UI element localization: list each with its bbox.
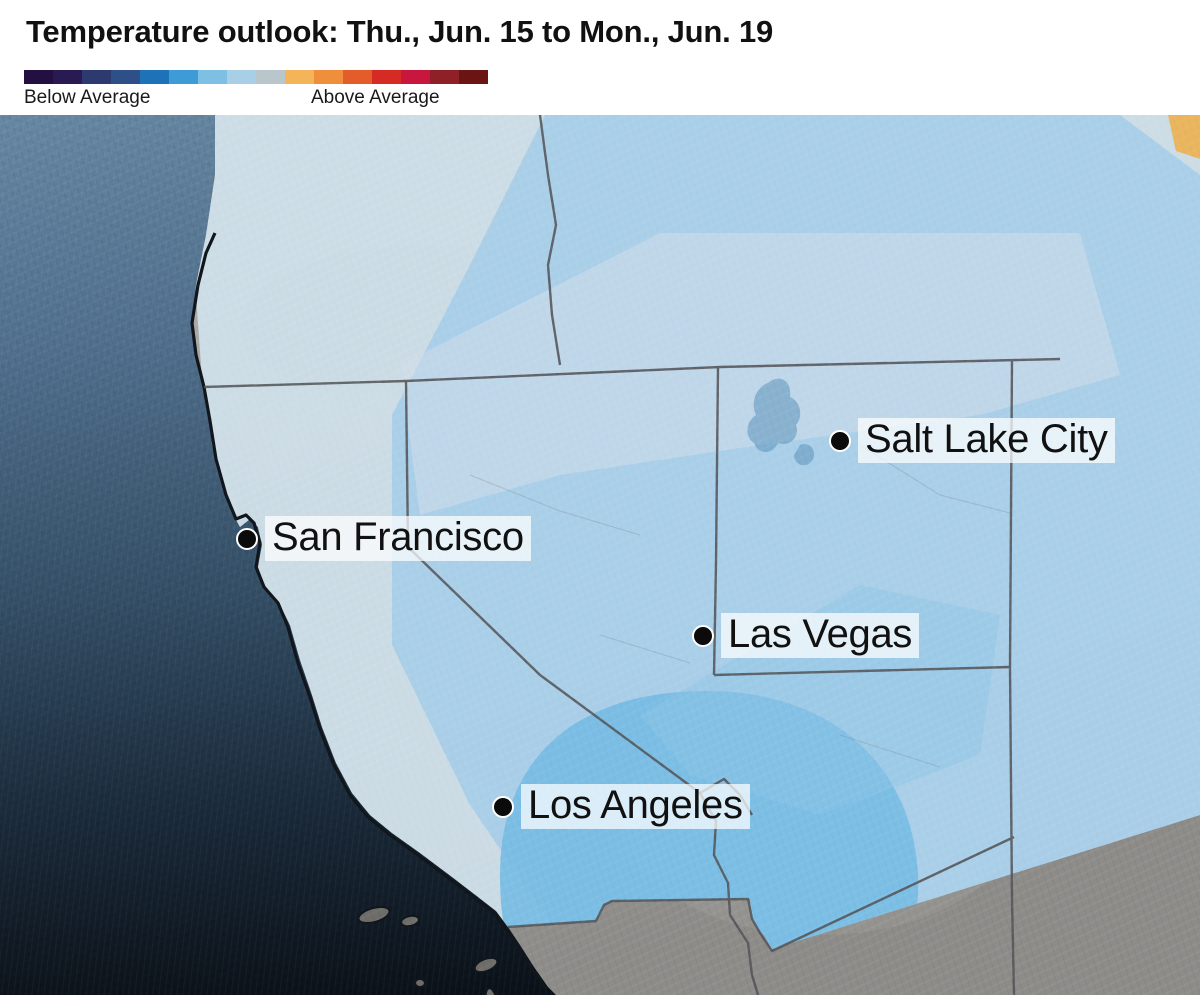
legend-swatch [285, 70, 314, 84]
legend-swatch [169, 70, 198, 84]
city-label: San Francisco [265, 516, 531, 561]
legend-swatch [343, 70, 372, 84]
city-marker-las-vegas[interactable]: Las Vegas [692, 613, 919, 658]
city-dot-icon [236, 528, 258, 550]
legend-label-below-average: Below Average [24, 87, 150, 109]
legend-swatch [401, 70, 430, 84]
city-label: Las Vegas [721, 613, 919, 658]
page-title: Temperature outlook: Thu., Jun. 15 to Mo… [26, 14, 773, 50]
legend-swatch [372, 70, 401, 84]
temperature-color-legend [24, 70, 488, 84]
city-marker-salt-lake-city[interactable]: Salt Lake City [829, 418, 1115, 463]
city-dot-icon [692, 625, 714, 647]
terrain-texture [0, 115, 1200, 995]
legend-label-above-average: Above Average [311, 87, 440, 109]
legend-swatch [314, 70, 343, 84]
legend-swatch [459, 70, 488, 84]
city-label: Los Angeles [521, 784, 750, 829]
weather-map[interactable]: Salt Lake City San Francisco Las Vegas L… [0, 115, 1200, 995]
city-marker-los-angeles[interactable]: Los Angeles [492, 784, 750, 829]
legend-swatch [82, 70, 111, 84]
header: Temperature outlook: Thu., Jun. 15 to Mo… [0, 0, 1200, 115]
city-dot-icon [492, 796, 514, 818]
legend-swatch [256, 70, 285, 84]
legend-swatch [111, 70, 140, 84]
legend-swatch [227, 70, 256, 84]
city-label: Salt Lake City [858, 418, 1115, 463]
legend-swatch [24, 70, 53, 84]
legend-swatch [140, 70, 169, 84]
legend-swatch [53, 70, 82, 84]
city-marker-san-francisco[interactable]: San Francisco [236, 516, 531, 561]
city-dot-icon [829, 430, 851, 452]
legend-swatch [430, 70, 459, 84]
temperature-outlook-map-page: Temperature outlook: Thu., Jun. 15 to Mo… [0, 0, 1200, 995]
legend-swatch [198, 70, 227, 84]
